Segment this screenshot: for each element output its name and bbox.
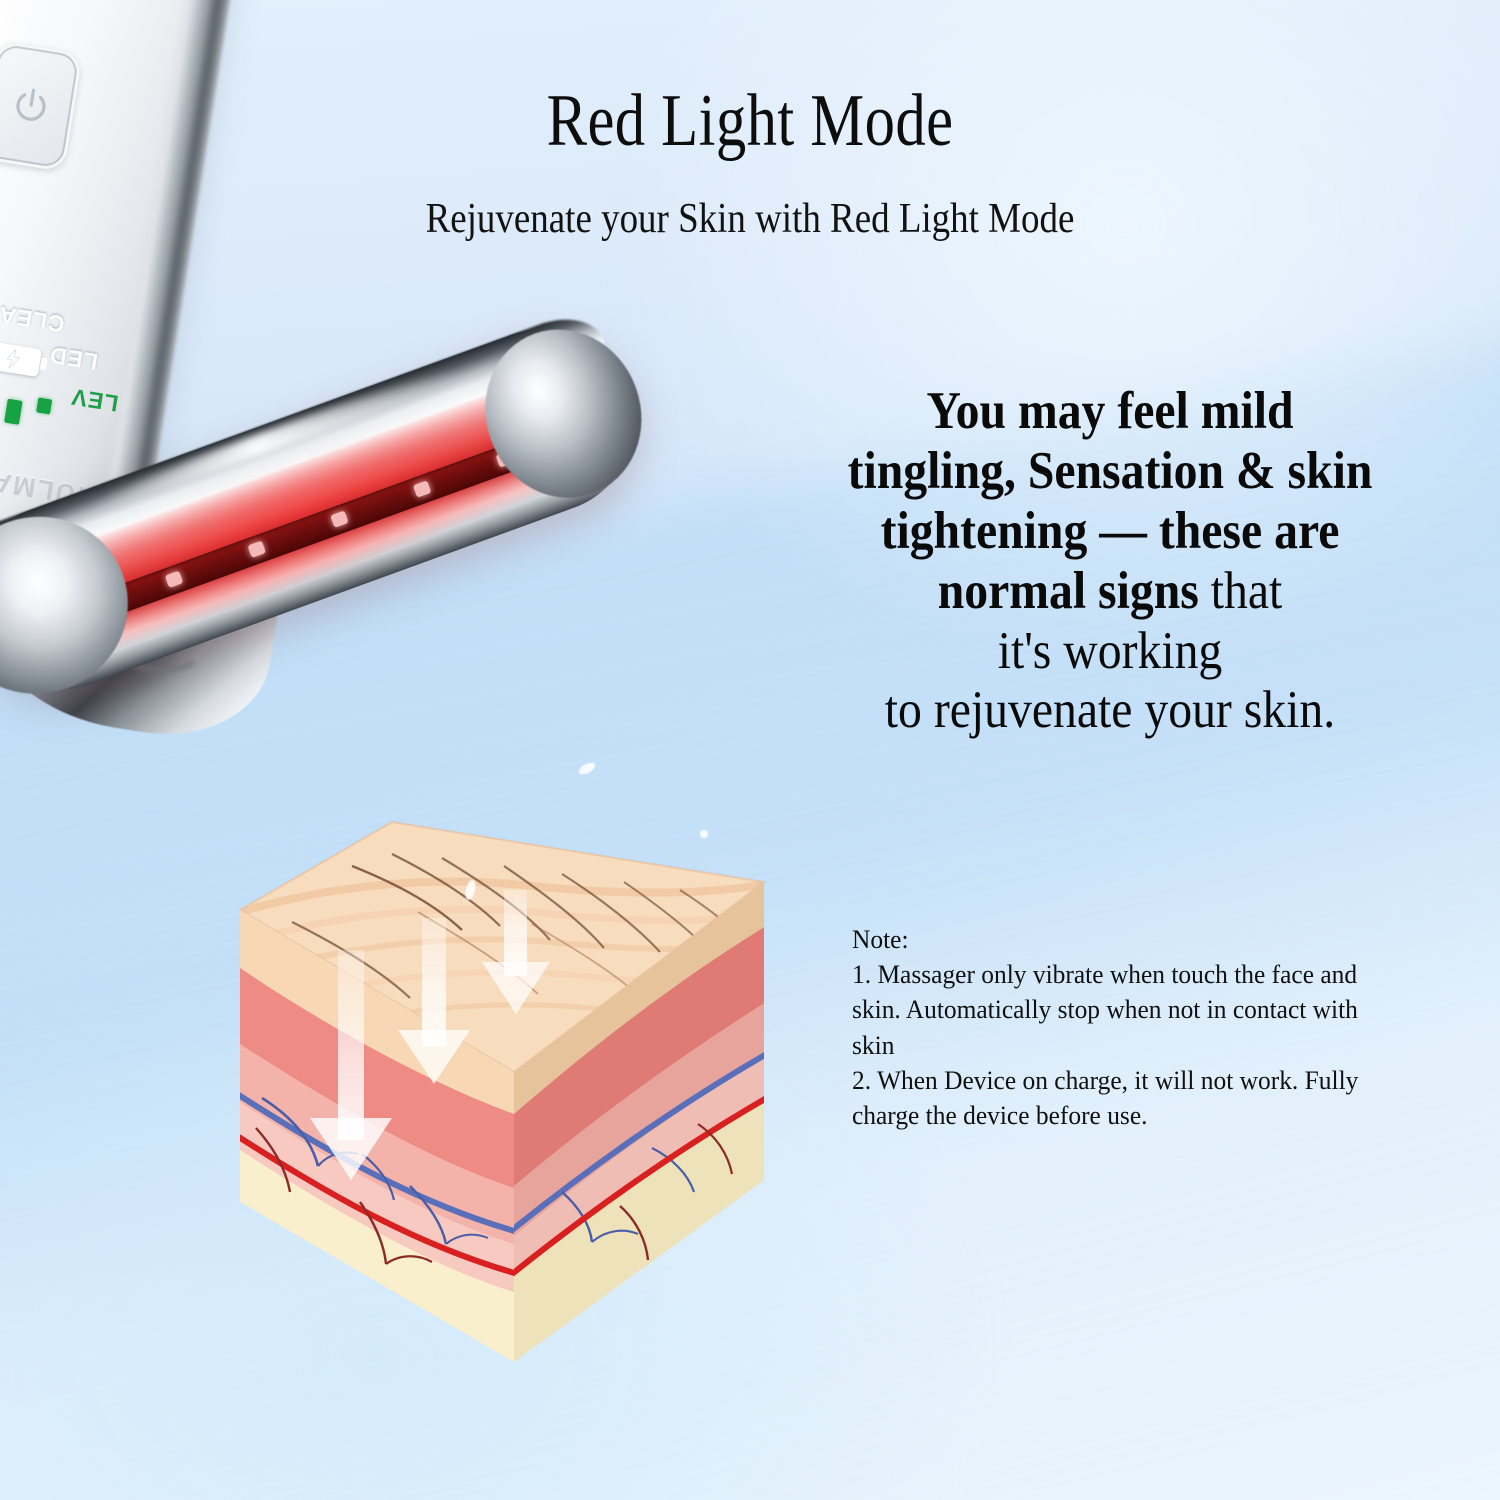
battery-charging-icon xyxy=(0,341,42,377)
headline-block: You may feel mild tingling, Sensation & … xyxy=(760,382,1460,741)
product-marketing-image: Red Light Mode Rejuvenate your Skin with… xyxy=(0,0,1500,1500)
skin-cross-section-diagram xyxy=(232,762,772,1412)
sparkle xyxy=(700,830,708,838)
headline-line-4-tail: that xyxy=(1199,562,1282,620)
headline-line-2: tingling, Sensation & skin xyxy=(795,442,1425,502)
note-heading: Note: xyxy=(852,922,1390,957)
headline-line-1: You may feel mild xyxy=(795,382,1425,442)
led-dot xyxy=(413,481,432,498)
headline-line-6: to rejuvenate your skin. xyxy=(795,681,1425,741)
level-bar-3 xyxy=(36,397,52,414)
power-icon xyxy=(8,83,54,129)
note-block: Note: 1. Massager only vibrate when touc… xyxy=(852,922,1390,1133)
headline-line-4: normal signs that xyxy=(795,562,1425,622)
display-clean-label: CLEAN xyxy=(0,298,67,338)
headline-line-3: tightening — these are xyxy=(795,502,1425,562)
display-led-label: LED xyxy=(47,341,100,375)
lightning-bolt-icon xyxy=(5,348,22,370)
note-item-1: 1. Massager only vibrate when touch the … xyxy=(852,957,1390,1063)
headline-emphasis: normal signs xyxy=(938,562,1199,620)
led-dot xyxy=(330,511,349,528)
headline-line-5: it's working xyxy=(795,622,1425,682)
led-dot xyxy=(247,541,266,558)
level-bar-2 xyxy=(4,399,23,425)
led-dot xyxy=(165,571,184,588)
note-item-2: 2. When Device on charge, it will not wo… xyxy=(852,1063,1390,1133)
